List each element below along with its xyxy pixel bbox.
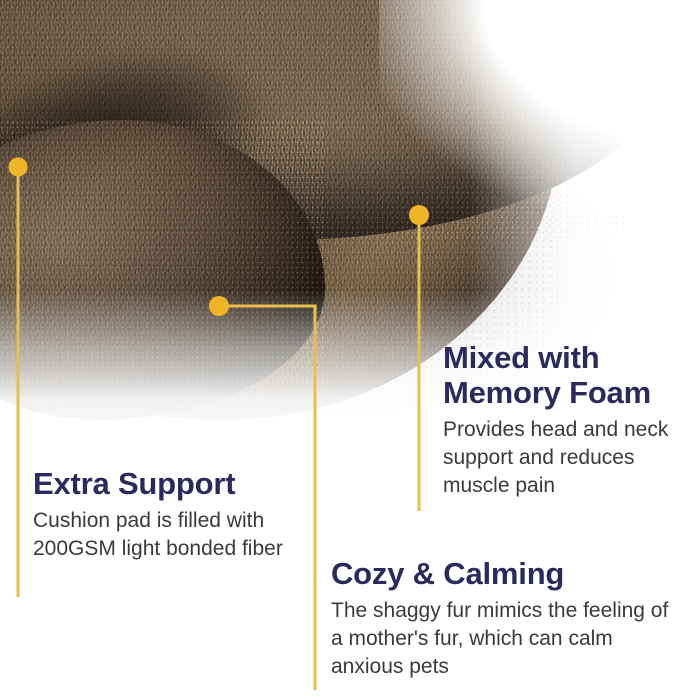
infographic-panel: Extra Support Cushion pad is filled with… bbox=[0, 0, 679, 696]
feature-title-memory-foam: Mixed with Memory Foam bbox=[443, 340, 679, 410]
pet-bed-front-bolster bbox=[0, 120, 325, 420]
callout-extra-support bbox=[9, 158, 28, 598]
pet-bed-back-rim bbox=[0, 0, 670, 240]
feature-description-memory-foam: Provides head and neck support and reduc… bbox=[443, 416, 679, 500]
feature-description-cozy-calming: The shaggy fur mimics the feeling of a m… bbox=[331, 597, 679, 681]
feature-block-extra-support: Extra Support Cushion pad is filled with… bbox=[33, 466, 283, 563]
feature-title-extra-support: Extra Support bbox=[33, 466, 283, 501]
marker-dot-memory-foam bbox=[409, 205, 429, 225]
feature-title-cozy-calming: Cozy & Calming bbox=[331, 556, 679, 591]
feature-description-extra-support: Cushion pad is filled with 200GSM light … bbox=[33, 507, 283, 563]
photo-fade-top-right bbox=[379, 0, 679, 210]
fur-speckle-layer-2 bbox=[0, 0, 670, 240]
callout-memory-foam bbox=[409, 205, 429, 511]
marker-dot-extra-support bbox=[9, 158, 28, 177]
fur-texture-layer-3 bbox=[0, 0, 670, 240]
fur-texture-layer-5 bbox=[0, 120, 325, 420]
fur-texture-layer-4 bbox=[0, 0, 670, 240]
feature-block-memory-foam: Mixed with Memory Foam Provides head and… bbox=[443, 340, 679, 500]
feature-block-cozy-calming: Cozy & Calming The shaggy fur mimics the… bbox=[331, 556, 679, 681]
marker-dot-cozy-calming bbox=[209, 296, 229, 316]
fur-speckle-layer-3 bbox=[0, 120, 325, 420]
pet-bed-inner-shadow bbox=[0, 18, 288, 282]
fur-texture-layer-6 bbox=[0, 120, 325, 420]
